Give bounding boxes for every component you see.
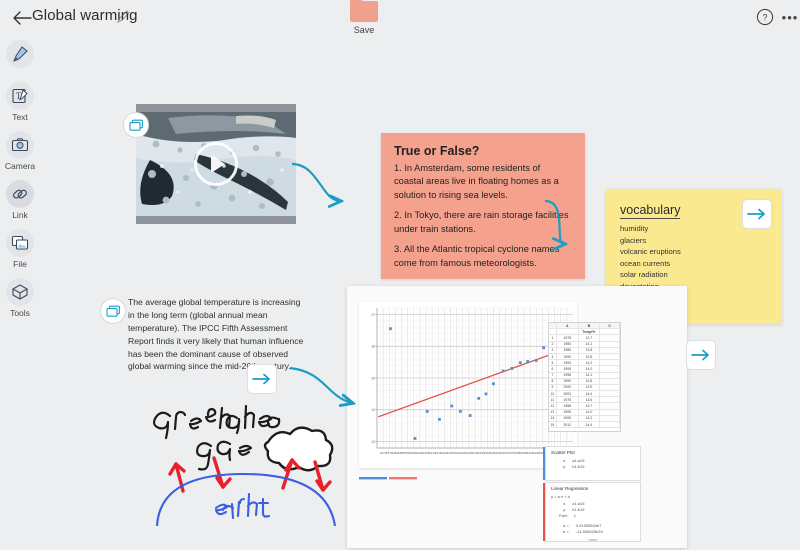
- table-cell[interactable]: [600, 397, 620, 402]
- whiteboard-canvas[interactable]: True or False? 1. In Amsterdam, some res…: [40, 46, 800, 550]
- table-cell[interactable]: [600, 416, 620, 421]
- x-value: a1:a15: [572, 458, 584, 463]
- x-value: a1:a15: [572, 501, 584, 506]
- table-cell[interactable]: 1988: [557, 403, 579, 408]
- table-cell[interactable]: [600, 348, 620, 353]
- table-cell[interactable]: [600, 422, 620, 427]
- table-cell[interactable]: 1993: [557, 360, 579, 365]
- cloud-drawing: [265, 428, 332, 471]
- linear-regression-panel[interactable]: Linear Regression y = a·x + b x: a1:a15 …: [545, 482, 641, 542]
- sidebar-item-tools[interactable]: Tools: [0, 278, 40, 318]
- regression-b-row: b = -14.508925e24: [563, 529, 635, 535]
- table-cell[interactable]: 5: [549, 360, 557, 365]
- table-cell[interactable]: 6: [549, 366, 557, 371]
- table-cell[interactable]: 14.1: [579, 342, 601, 347]
- table-cell[interactable]: 1: [549, 335, 557, 340]
- regression-fwd-row: Fwd: 1: [559, 513, 635, 519]
- more-ellipsis-icon[interactable]: •••: [782, 8, 798, 26]
- sidebar-item-pen[interactable]: [0, 40, 40, 68]
- table-cell[interactable]: [600, 342, 620, 347]
- connector-video-to-card: [292, 164, 340, 201]
- panel-title: Scatter Plot: [551, 450, 635, 455]
- chart-slider[interactable]: [359, 476, 417, 480]
- list-item: solar radiation: [620, 269, 768, 281]
- table-cell[interactable]: [600, 379, 620, 384]
- left-toolbar: T Text Camera Link File Tools: [0, 40, 40, 330]
- table-cell[interactable]: 14.2: [579, 416, 601, 421]
- question-3: 3. All the Atlantic tropical cyclone nam…: [394, 243, 572, 270]
- sidebar-item-camera[interactable]: Camera: [0, 131, 40, 171]
- x-label: x:: [563, 458, 566, 463]
- greenhouse-gas-drawing[interactable]: [120, 386, 350, 526]
- y-value: b1:b15: [572, 507, 584, 512]
- b-value: -14.508925e24: [576, 529, 603, 534]
- table-cell[interactable]: 3: [549, 348, 557, 353]
- expand-chart-button[interactable]: [686, 340, 716, 370]
- save-label: Save: [344, 25, 384, 35]
- sidebar-item-link[interactable]: Link: [0, 180, 40, 220]
- table-cell[interactable]: 14.0: [579, 366, 601, 371]
- table-cell[interactable]: [600, 366, 620, 371]
- table-cell[interactable]: 13.7: [579, 403, 601, 408]
- cards-badge-icon: [123, 112, 149, 138]
- table-cell[interactable]: [600, 335, 620, 340]
- table-cell[interactable]: [600, 403, 620, 408]
- svg-text:?: ?: [762, 12, 767, 22]
- list-item: glaciers: [620, 235, 768, 247]
- table-cell[interactable]: 1975: [557, 335, 579, 340]
- link-icon: [6, 180, 34, 208]
- table-cell[interactable]: 2: [549, 342, 557, 347]
- table-cell[interactable]: [600, 391, 620, 396]
- sidebar-item-label: Link: [0, 210, 40, 220]
- table-cell[interactable]: [600, 354, 620, 359]
- table-cell[interactable]: 1985: [557, 348, 579, 353]
- regression-equation: y = a·x + b: [551, 494, 635, 499]
- table-cell[interactable]: [600, 410, 620, 415]
- column-header: C: [600, 323, 620, 328]
- column-header: [549, 323, 557, 328]
- sidebar-item-label: File: [0, 259, 40, 269]
- table-cell[interactable]: 2003: [557, 391, 579, 396]
- chart-card[interactable]: 1314151617187018751880188518901895190019…: [347, 286, 687, 548]
- tools-box-icon: [6, 278, 34, 306]
- app-header: Global warming Save ? •••: [0, 0, 800, 46]
- table-cell[interactable]: 15: [549, 422, 557, 427]
- pencil-icon[interactable]: [117, 9, 131, 23]
- y-value: b1:b15: [572, 464, 584, 469]
- plot-svg: 1314151617187018751880188518901895190019…: [359, 302, 577, 468]
- list-item: volcanic eruptions: [620, 246, 768, 258]
- table-cell[interactable]: 13.8: [579, 354, 601, 359]
- table-cell[interactable]: 1980: [557, 342, 579, 347]
- table-cell[interactable]: 1995: [557, 366, 579, 371]
- earth-handwriting: [216, 494, 269, 518]
- scatter-plot-panel[interactable]: Scatter Plot x: a1:a15 y: b1:b15: [545, 446, 641, 481]
- sidebar-item-file[interactable]: File: [0, 229, 40, 269]
- scatter-y-row: y: b1:b15: [563, 464, 635, 470]
- list-item: ocean currents: [620, 258, 768, 270]
- help-circle-icon[interactable]: ?: [756, 8, 774, 26]
- table-cell[interactable]: 1990: [557, 354, 579, 359]
- table-cell[interactable]: 14.4: [579, 391, 601, 396]
- y-label: y:: [563, 464, 566, 469]
- question-1: 1. In Amsterdam, some residents of coast…: [394, 162, 572, 202]
- arrow-right-icon: [691, 348, 711, 362]
- table-cell[interactable]: 13.8: [579, 379, 601, 384]
- x-label: x:: [563, 501, 566, 506]
- subheader-cell: [557, 329, 579, 334]
- a-label: a =: [563, 523, 569, 528]
- question-2: 2. In Tokyo, there are rain storage faci…: [394, 209, 572, 236]
- back-arrow-icon[interactable]: [10, 6, 34, 30]
- svg-text:13: 13: [371, 440, 375, 444]
- y-label: y:: [563, 507, 566, 512]
- pen-icon: [6, 40, 34, 68]
- expand-drawing-button[interactable]: [247, 364, 277, 394]
- sidebar-item-label: Camera: [0, 161, 40, 171]
- table-cell[interactable]: 12: [549, 403, 557, 408]
- table-cell[interactable]: 13.6: [579, 397, 601, 402]
- more-link[interactable]: more: [551, 537, 635, 542]
- table-cell[interactable]: 1975: [557, 397, 579, 402]
- table-cell[interactable]: 1999: [557, 379, 579, 384]
- save-button[interactable]: Save: [344, 1, 384, 35]
- table-cell[interactable]: 1998: [557, 373, 579, 378]
- subheader-cell: [600, 329, 620, 334]
- table-cell[interactable]: 11: [549, 397, 557, 402]
- expand-vocabulary-button[interactable]: [742, 199, 772, 229]
- video-card[interactable]: [136, 104, 296, 224]
- table-cell[interactable]: 8: [549, 379, 557, 384]
- greenhouse-handwriting: [154, 406, 279, 469]
- true-false-card[interactable]: True or False? 1. In Amsterdam, some res…: [381, 133, 585, 279]
- fwd-value: 1: [574, 513, 576, 518]
- cards-badge-icon: [100, 298, 126, 324]
- svg-text:16: 16: [371, 345, 375, 349]
- table-row[interactable]: 15201214.4: [549, 422, 620, 428]
- earth-arc: [157, 474, 335, 526]
- play-button-icon[interactable]: [194, 142, 238, 186]
- camera-icon: [6, 131, 34, 159]
- table-cell[interactable]: [600, 360, 620, 365]
- sidebar-item-label: Text: [0, 112, 40, 122]
- panel-title: Linear Regression: [551, 486, 635, 491]
- b-label: b =: [563, 529, 569, 534]
- table-cell[interactable]: 2005: [557, 416, 579, 421]
- subheader-cell: [549, 329, 557, 334]
- table-cell[interactable]: 14: [549, 416, 557, 421]
- svg-text:17: 17: [371, 313, 375, 317]
- table-cell[interactable]: 14.4: [579, 422, 601, 427]
- card-title: True or False?: [394, 144, 572, 158]
- card-title: vocabulary: [620, 203, 680, 219]
- svg-text:14: 14: [371, 408, 375, 412]
- fwd-label: Fwd:: [559, 513, 568, 518]
- svg-text:15: 15: [371, 376, 375, 380]
- panel-accent-bar: [543, 447, 545, 480]
- table-cell[interactable]: [600, 385, 620, 390]
- sidebar-item-text[interactable]: T Text: [0, 82, 40, 122]
- table-cell[interactable]: [600, 373, 620, 378]
- table-cell[interactable]: 2012: [557, 422, 579, 427]
- column-header: B: [579, 323, 601, 328]
- table-cell[interactable]: 13.9: [579, 385, 601, 390]
- table-cell[interactable]: 4: [549, 354, 557, 359]
- folder-icon: [350, 1, 378, 22]
- arrow-right-icon: [252, 372, 272, 386]
- file-icon: [6, 229, 34, 257]
- table-cell[interactable]: 2000: [557, 385, 579, 390]
- sidebar-item-label: Tools: [0, 308, 40, 318]
- table-cell[interactable]: 13.8: [579, 348, 601, 353]
- table-cell[interactable]: 14.2: [579, 360, 601, 365]
- column-header: A: [557, 323, 579, 328]
- panel-accent-bar: [543, 483, 545, 541]
- table-cell[interactable]: 9: [549, 385, 557, 390]
- table-cell[interactable]: 13.7: [579, 335, 601, 340]
- table-cell[interactable]: 14.0: [579, 410, 601, 415]
- data-table[interactable]: ABCTemp/Yr1197513.72198014.13198513.8419…: [548, 322, 621, 432]
- paragraph-text[interactable]: The average global temperature is increa…: [128, 296, 308, 373]
- scatter-plot[interactable]: 1314151617187018751880188518901895190019…: [359, 302, 577, 468]
- table-cell[interactable]: 7: [549, 373, 557, 378]
- a-value: 0.01925540e7: [576, 523, 602, 528]
- table-cell[interactable]: 13: [549, 410, 557, 415]
- table-cell[interactable]: 14.1: [579, 373, 601, 378]
- text-icon: T: [6, 82, 34, 110]
- subheader-cell: Temp/Yr: [579, 329, 601, 334]
- table-cell[interactable]: 1995: [557, 410, 579, 415]
- table-cell[interactable]: 10: [549, 391, 557, 396]
- arrow-right-icon: [747, 207, 767, 221]
